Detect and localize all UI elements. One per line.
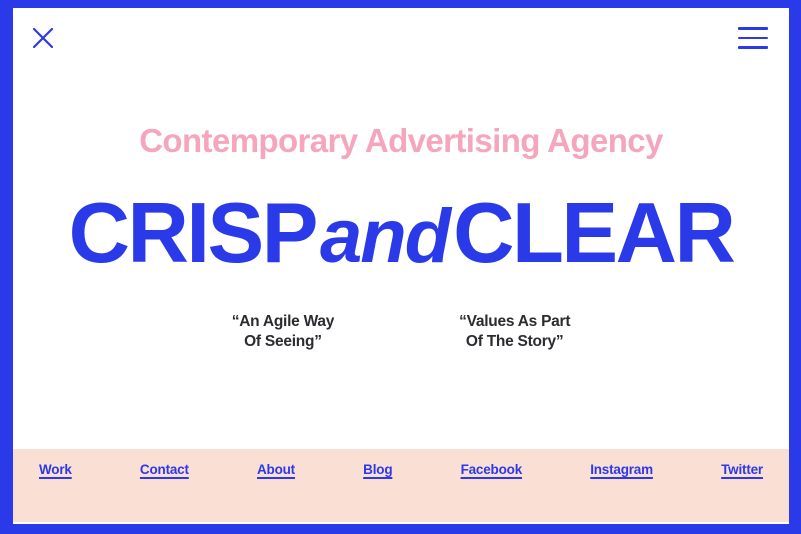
page-frame: Contemporary Advertising Agency CRISPand… <box>0 0 801 534</box>
footer-link-contact[interactable]: Contact <box>140 462 189 477</box>
hamburger-menu-icon[interactable] <box>738 27 768 49</box>
footer-link-instagram[interactable]: Instagram <box>590 462 653 477</box>
quote-left: “An Agile Way Of Seeing” <box>232 312 334 352</box>
hero-quotes: “An Agile Way Of Seeing” “Values As Part… <box>13 312 789 352</box>
close-icon-glyph <box>30 25 56 51</box>
footer-link-about[interactable]: About <box>257 462 295 477</box>
footer-link-work[interactable]: Work <box>39 462 72 477</box>
top-bar <box>13 8 789 70</box>
headline-conjunction: and <box>316 194 453 279</box>
quote-right: “Values As Part Of The Story” <box>459 312 570 352</box>
headline-word-second: CLEAR <box>453 186 733 281</box>
footer-link-blog[interactable]: Blog <box>363 462 392 477</box>
hamburger-bar-2 <box>738 37 768 40</box>
footer-bar: Work Contact About Blog Facebook Instagr… <box>13 449 789 522</box>
hamburger-bar-1 <box>738 27 768 30</box>
footer-link-facebook[interactable]: Facebook <box>461 462 522 477</box>
close-icon[interactable] <box>30 25 56 51</box>
hero-headline: CRISPandCLEAR <box>69 191 734 276</box>
hamburger-bar-3 <box>738 46 768 49</box>
hero-eyebrow: Contemporary Advertising Agency <box>139 124 663 157</box>
footer-link-twitter[interactable]: Twitter <box>721 462 763 477</box>
headline-word-first: CRISP <box>69 186 316 281</box>
footer-links: Work Contact About Blog Facebook Instagr… <box>13 449 789 477</box>
page-canvas: Contemporary Advertising Agency CRISPand… <box>13 8 789 524</box>
hero-section: Contemporary Advertising Agency CRISPand… <box>13 70 789 430</box>
